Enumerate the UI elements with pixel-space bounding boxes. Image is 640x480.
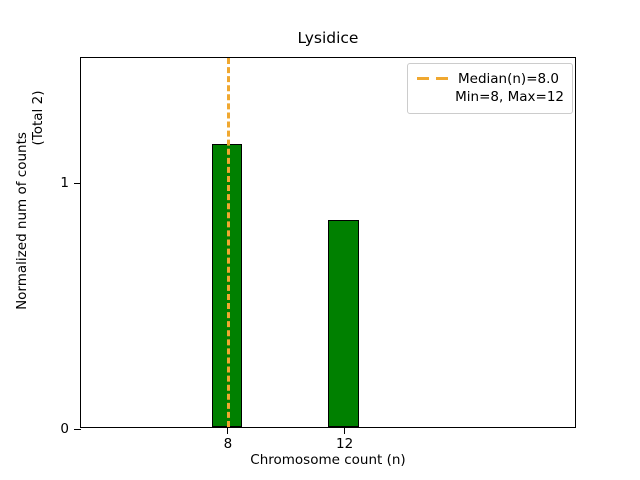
plot-area: 0 1 8 12 Median(n)=8.0 Min=8, Max=12 bbox=[80, 57, 576, 428]
x-axis-label: Chromosome count (n) bbox=[80, 452, 576, 468]
chart-figure: Lysidice 0 1 8 12 Median(n)=8.0 bbox=[0, 0, 640, 480]
x-tick-12: 12 bbox=[344, 427, 345, 434]
y-tick-0: 0 bbox=[74, 429, 81, 430]
bar-12 bbox=[328, 220, 359, 427]
legend-entry-minmax: Min=8, Max=12 bbox=[416, 88, 564, 106]
y-tick-label-1: 1 bbox=[60, 175, 69, 191]
y-tick-label-0: 0 bbox=[60, 421, 69, 437]
legend-label-minmax: Min=8, Max=12 bbox=[455, 88, 564, 106]
legend: Median(n)=8.0 Min=8, Max=12 bbox=[407, 63, 573, 114]
y-axis-label: Normalized num of counts bbox=[14, 91, 30, 351]
legend-entry-median: Median(n)=8.0 bbox=[416, 70, 564, 88]
x-tick-label-8: 8 bbox=[224, 436, 233, 452]
chart-title: Lysidice bbox=[80, 30, 576, 47]
median-line bbox=[227, 58, 230, 427]
y-tick-1: 1 bbox=[74, 183, 81, 184]
y-axis-total-label: (Total 2) bbox=[30, 58, 46, 178]
x-tick-8: 8 bbox=[227, 427, 228, 434]
legend-label-median: Median(n)=8.0 bbox=[458, 70, 559, 88]
dashed-line-icon bbox=[416, 72, 450, 86]
x-tick-label-12: 12 bbox=[336, 436, 353, 452]
